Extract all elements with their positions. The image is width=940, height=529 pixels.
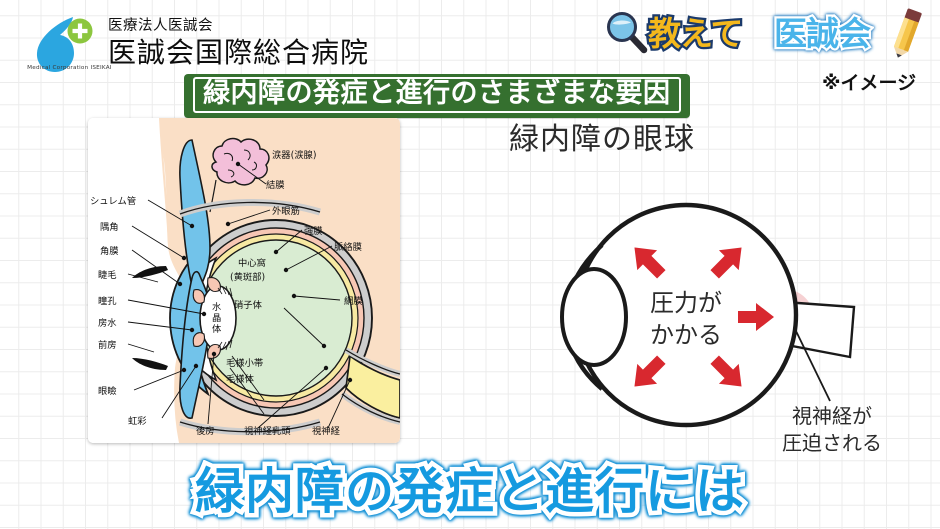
- label-macula: (黄斑部): [230, 271, 265, 283]
- pressure-text-line-2: かかる: [650, 321, 722, 349]
- bottom-subtitle-text: 緑内障の発症と進行には: [195, 462, 745, 522]
- slide-canvas: 医療法人医誠会 医誠会国際総合病院 Medical Corporation IS…: [0, 0, 940, 529]
- topic-banner-text: 緑内障の発症と進行のさまざまな要因: [203, 80, 671, 108]
- label-anterior-chamber: 前房: [98, 339, 117, 351]
- hospital-logo-block: 医療法人医誠会 医誠会国際総合病院 Medical Corporation IS…: [26, 8, 446, 80]
- callout-line-1: 視神経が: [792, 404, 872, 428]
- label-lens-char-1: 水: [212, 301, 222, 313]
- show-title-word-2: 医誠会: [774, 7, 870, 55]
- label-lacrimal: 涙器(涙腺): [272, 149, 316, 161]
- pressure-diagram-svg: 圧力が かかる 視神経が 圧迫される: [520, 175, 920, 455]
- label-extraocular-muscle: 外眼筋: [272, 205, 300, 217]
- pencil-icon: [886, 6, 926, 62]
- image-note-label: ※イメージ: [822, 68, 916, 95]
- eye-anatomy-diagram-card: シュレム管 隅角 角膜 睫毛 瞳孔 房水 前房 眼瞼 虹彩 結膜 涙器(涙腺) …: [88, 118, 400, 443]
- label-lens-char-3: 体: [212, 323, 222, 335]
- label-zonule: 毛様小帯: [226, 357, 263, 369]
- topic-banner: 緑内障の発症と進行のさまざまな要因: [184, 74, 690, 118]
- topic-banner-inner: 緑内障の発症と進行のさまざまな要因: [193, 77, 681, 113]
- eye-anatomy-svg: シュレム管 隅角 角膜 睫毛 瞳孔 房水 前房 眼瞼 虹彩 結膜 涙器(涙腺) …: [88, 118, 400, 443]
- label-optic-disc: 視神経乳頭: [244, 425, 291, 437]
- bottom-subtitle: 緑内障の発症と進行には: [0, 462, 940, 522]
- callout-line-2: 圧迫される: [782, 431, 882, 455]
- label-posterior-chamber: 後房: [196, 425, 215, 437]
- label-eyelid: 眼瞼: [98, 385, 117, 397]
- label-choroid: 脈絡膜: [334, 241, 362, 253]
- logo-latin-name: Medical Corporation ISEIKAI: [27, 65, 112, 71]
- label-retina: 網膜: [344, 295, 363, 307]
- label-ciliary-body: 毛様体: [226, 373, 255, 385]
- show-title-word-1: 教えて: [648, 7, 742, 55]
- label-angle: 隅角: [100, 221, 119, 233]
- cornea-ellipse: [562, 269, 626, 365]
- label-sclera: 強膜: [304, 225, 323, 237]
- label-aqueous: 房水: [98, 317, 117, 329]
- label-conjunctiva: 結膜: [266, 179, 285, 191]
- label-pupil: 瞳孔: [98, 295, 117, 307]
- label-eyelash: 睫毛: [98, 269, 117, 281]
- label-lens-char-2: 晶: [212, 313, 221, 324]
- logo-hospital-name: 医誠会国際総合病院: [108, 31, 369, 71]
- label-schlemm: シュレム管: [90, 195, 136, 207]
- magnifying-glass-icon: [604, 10, 650, 54]
- show-title-word-2-text: 医誠会: [774, 14, 870, 53]
- pressure-text-line-1: 圧力が: [650, 289, 722, 317]
- label-fovea: 中心窩: [238, 257, 266, 269]
- show-title-lockup: 教えて 医誠会: [600, 4, 940, 64]
- label-optic-nerve: 視神経: [312, 425, 341, 437]
- pressure-diagram: 圧力が かかる 視神経が 圧迫される: [520, 175, 920, 455]
- label-cornea: 角膜: [100, 245, 119, 257]
- label-iris: 虹彩: [128, 416, 147, 427]
- show-title-word-1-text: 教えて: [648, 14, 742, 53]
- label-vitreous: 硝子体: [234, 299, 263, 311]
- right-section-heading: 緑内障の眼球: [509, 114, 695, 158]
